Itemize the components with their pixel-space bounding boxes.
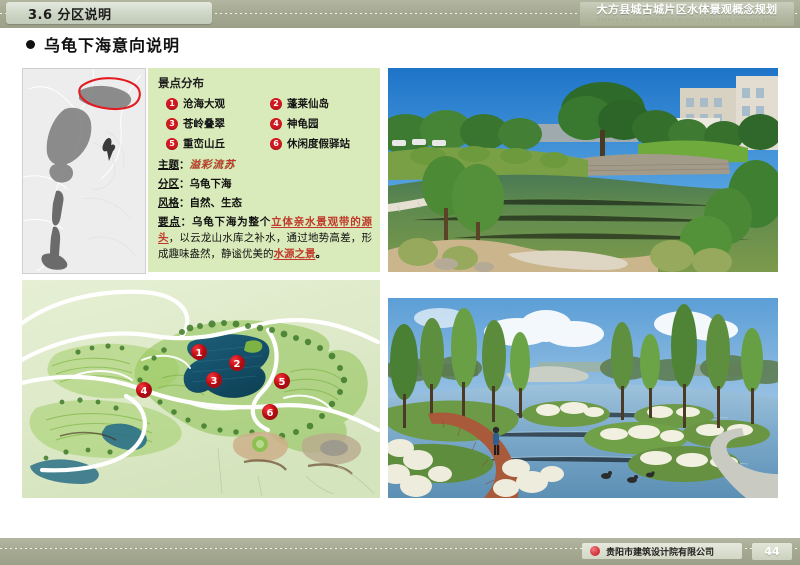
plan-marker: 3 (206, 372, 222, 388)
section-tab-label: 3.6 分区说明 (6, 4, 112, 23)
page-title: 乌龟下海意向说明 (44, 32, 180, 56)
info-panel: 景点分布 1 沧海大观 2 蓬莱仙岛 3 苍岭叠翠 4 神龟园 5 重峦山丘 6… (148, 68, 380, 272)
legend-item-label: 休闲度假驿站 (287, 136, 350, 151)
keypoints-highlight-2: 水源之景 (274, 248, 316, 260)
field-keypoints-key: 要点 (158, 216, 181, 228)
colon: ： (179, 176, 190, 191)
keypoints-text-part3: 。 (316, 248, 327, 260)
wetland-rendering-photo[interactable] (388, 298, 778, 498)
bullet-icon (26, 40, 35, 49)
svg-text:6: 6 (267, 408, 274, 419)
section-tab[interactable]: 3.6 分区说明 (6, 2, 212, 24)
riverside-park-image (388, 68, 778, 272)
field-zone: 分区 ： 乌龟下海 (158, 176, 372, 191)
colon: ： (179, 195, 190, 210)
page-number: 44 (764, 545, 779, 558)
legend-number-badge: 1 (166, 98, 178, 110)
legend-number-badge: 5 (166, 138, 178, 150)
colon: ： (181, 216, 192, 228)
field-keypoints: 要点：乌龟下海为整个立体亲水景观带的源头，以云龙山水库之补水，通过地势高差，形成… (158, 214, 372, 262)
legend-item[interactable]: 5 重峦山丘 (166, 136, 268, 151)
document-subtitle: dafang county city area water landscape … (597, 17, 777, 23)
keypoints-text-part2: ，以云龙山水库之补水，通过地势高差，形成趣味盎然，静谧优美的 (158, 232, 372, 260)
colon: ： (179, 157, 190, 172)
plan-marker: 2 (229, 355, 245, 371)
page-number-badge: 44 (752, 543, 792, 560)
plan-marker: 6 (262, 404, 278, 420)
field-theme-value: 溢彩流苏 (190, 157, 236, 172)
location-context-map[interactable] (22, 68, 146, 274)
field-style-value: 自然、生态 (190, 195, 243, 210)
legend-list: 1 沧海大观 2 蓬莱仙岛 3 苍岭叠翠 4 神龟园 5 重峦山丘 6 休闲度假… (166, 96, 372, 151)
plan-marker: 1 (191, 344, 207, 360)
riverside-park-photo[interactable] (388, 68, 778, 272)
info-panel-title: 景点分布 (158, 75, 372, 91)
field-style-key: 风格 (158, 195, 179, 210)
document-title-tab: 大方县城古城片区水体景观概念规划 dafang county city area… (580, 2, 794, 26)
company-logo-icon (590, 546, 600, 556)
legend-item-label: 苍岭叠翠 (183, 116, 225, 131)
svg-text:2: 2 (234, 359, 241, 370)
legend-item[interactable]: 3 苍岭叠翠 (166, 116, 268, 131)
company-badge: 贵阳市建筑设计院有限公司 (582, 543, 742, 559)
legend-number-badge: 6 (270, 138, 282, 150)
wetland-rendering-image (388, 298, 778, 498)
legend-item-label: 重峦山丘 (183, 136, 225, 151)
keypoints-text-part1: 乌龟下海为整个 (192, 216, 271, 228)
field-style: 风格 ： 自然、生态 (158, 195, 372, 210)
legend-item[interactable]: 1 沧海大观 (166, 96, 268, 111)
site-plan-graphic: 1 2 3 4 5 6 (22, 280, 380, 498)
field-theme-key: 主题 (158, 157, 179, 172)
plan-marker: 5 (274, 373, 290, 389)
legend-number-badge: 3 (166, 118, 178, 130)
page-heading: 乌龟下海意向说明 (26, 32, 180, 56)
field-zone-value: 乌龟下海 (190, 176, 232, 191)
legend-item-label: 蓬莱仙岛 (287, 96, 329, 111)
legend-item[interactable]: 2 蓬莱仙岛 (270, 96, 372, 111)
document-title: 大方县城古城片区水体景观概念规划 (597, 2, 778, 17)
company-name: 贵阳市建筑设计院有限公司 (606, 545, 714, 558)
field-zone-key: 分区 (158, 176, 179, 191)
legend-item[interactable]: 6 休闲度假驿站 (270, 136, 372, 151)
site-plan-map[interactable]: 1 2 3 4 5 6 (22, 280, 380, 498)
field-theme: 主题 ： 溢彩流苏 (158, 157, 372, 172)
legend-number-badge: 2 (270, 98, 282, 110)
legend-item-label: 沧海大观 (183, 96, 225, 111)
svg-text:3: 3 (211, 376, 218, 387)
legend-number-badge: 4 (270, 118, 282, 130)
location-map-graphic (23, 69, 145, 273)
plan-marker: 4 (136, 382, 152, 398)
svg-text:1: 1 (196, 348, 203, 359)
legend-item-label: 神龟园 (287, 116, 319, 131)
legend-item[interactable]: 4 神龟园 (270, 116, 372, 131)
svg-text:5: 5 (279, 377, 286, 388)
svg-text:4: 4 (141, 386, 148, 397)
